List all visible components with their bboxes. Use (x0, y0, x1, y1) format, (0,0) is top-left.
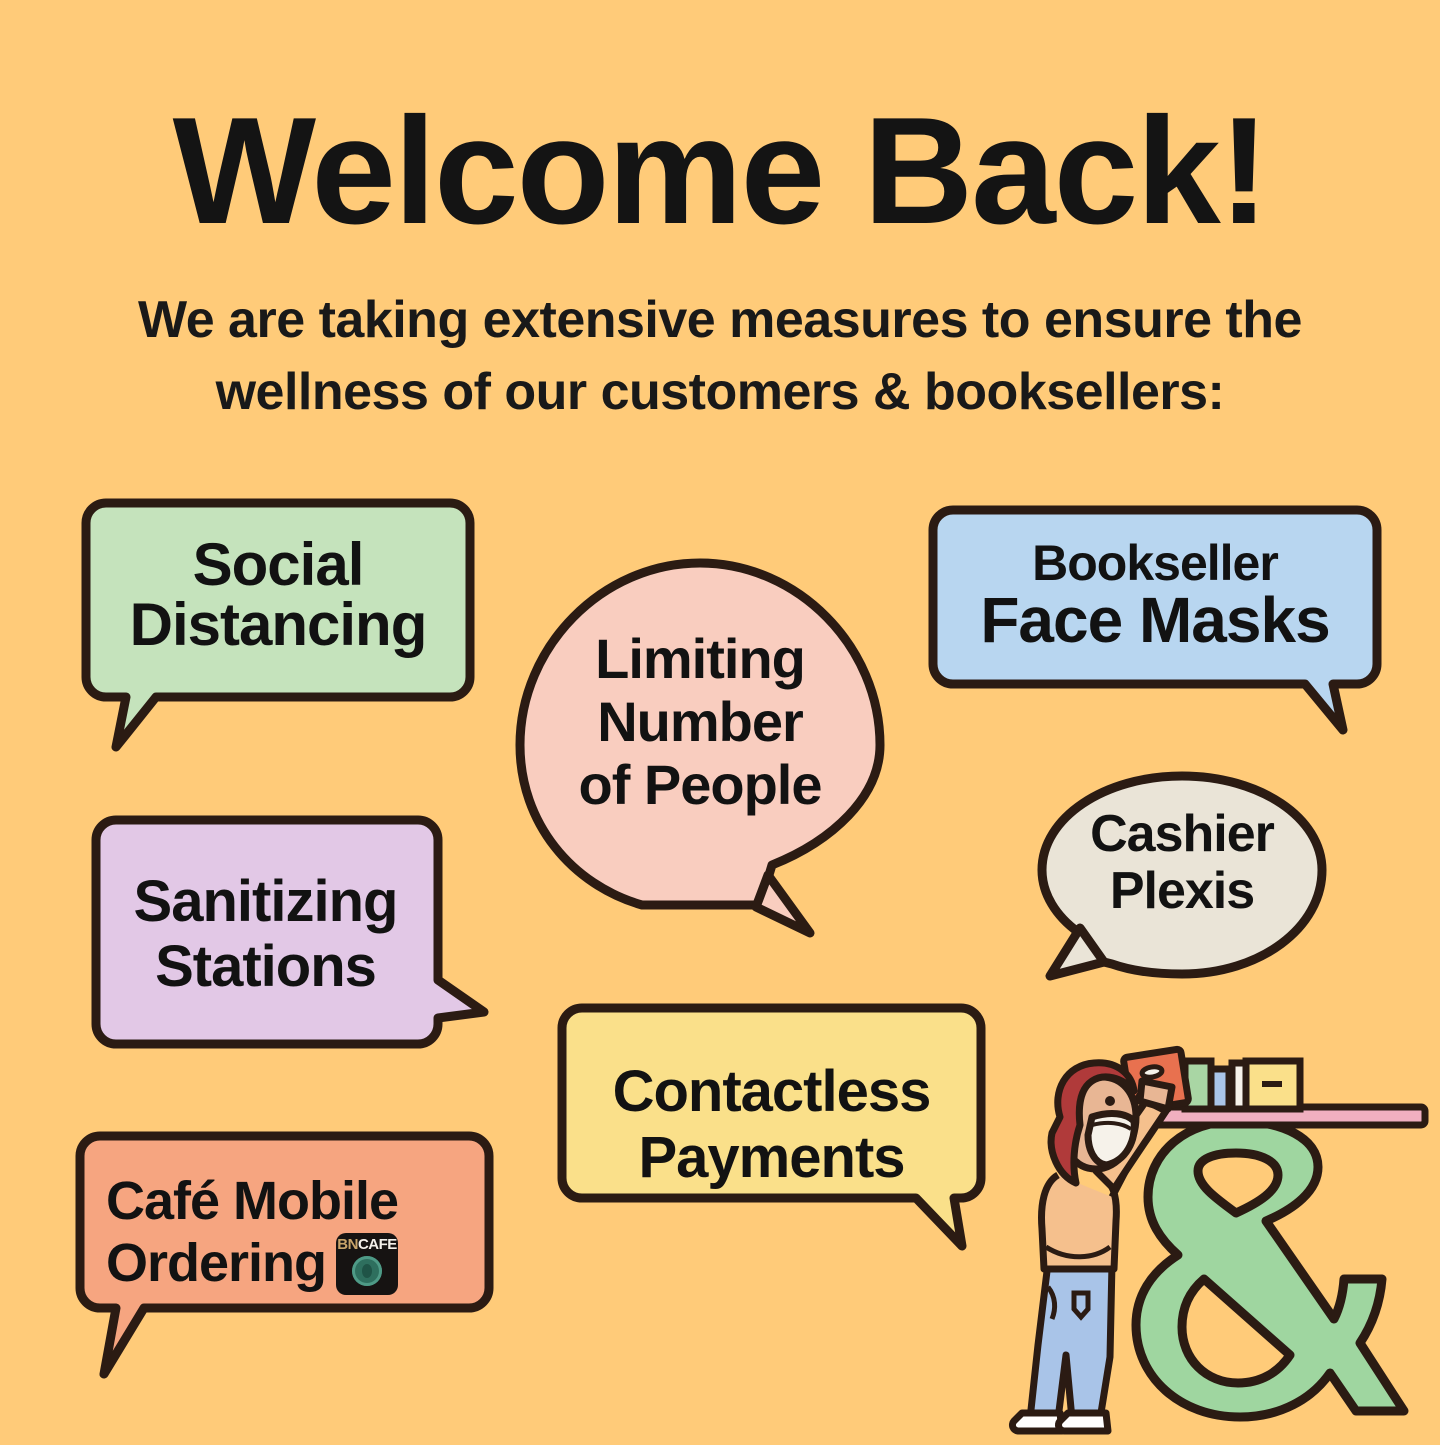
bubble-cafe-mobile-ordering[interactable]: Café Mobile Ordering BNCAFE (72, 1128, 497, 1338)
poster-canvas: Welcome Back! We are taking extensive me… (0, 0, 1440, 1440)
bubble-limiting-number-of-people[interactable]: Limiting Number of People (510, 555, 890, 940)
bubble-contactless-payments[interactable]: Contactless Payments (554, 1000, 989, 1250)
bubble-cashier-plexis[interactable]: Cashier Plexis (1032, 768, 1332, 983)
page-title: Welcome Back! (0, 95, 1440, 247)
subtitle-line-2: wellness of our customers & booksellers: (216, 363, 1225, 421)
bookseller-illustration (1000, 1025, 1440, 1445)
bubble-social-distancing[interactable]: Social Distancing (78, 495, 478, 755)
bubble-bookseller-face-masks[interactable]: Bookseller Face Masks (925, 502, 1385, 737)
subtitle-line-1: We are taking extensive measures to ensu… (138, 291, 1302, 349)
ampersand-icon (1136, 1121, 1404, 1417)
bubble-sanitizing-stations[interactable]: Sanitizing Stations (88, 812, 488, 1057)
page-subtitle: We are taking extensive measures to ensu… (110, 285, 1330, 429)
